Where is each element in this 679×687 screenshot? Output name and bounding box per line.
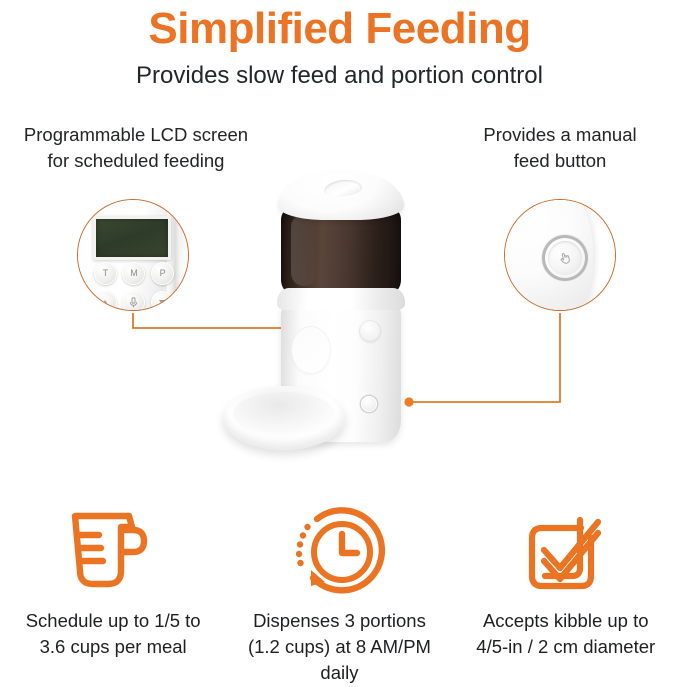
callout-caption-lcd: Programmable LCD screen for scheduled fe…: [0, 122, 274, 174]
hopper-gloss: [291, 214, 317, 286]
food-bowl-basin: [233, 392, 335, 436]
page-title: Simplified Feeding: [0, 0, 679, 56]
key-down-icon[interactable]: [151, 291, 174, 311]
feeder-collar: [277, 288, 405, 310]
feeder-lid: [278, 172, 404, 220]
feature-text-capacity: Schedule up to 1/5 to 3.6 cups per meal: [0, 608, 226, 660]
feature-text-schedule: Dispenses 3 portions (1.2 cups) at 8 AM/…: [226, 608, 452, 686]
hand-press-icon: [555, 248, 574, 267]
key-mode[interactable]: M: [122, 262, 145, 285]
lcd-keypad: T M P: [91, 262, 177, 311]
feature-icon-wrap: [453, 496, 679, 608]
key-record-icon[interactable]: [122, 291, 145, 311]
key-up-icon[interactable]: [94, 291, 117, 311]
feature-row: Schedule up to 1/5 to 3.6 cups per meal …: [0, 496, 679, 686]
feature-text-kibble-size: Accepts kibble up to 4/5-in / 2 cm diame…: [453, 608, 679, 660]
feature-item-kibble-size: Accepts kibble up to 4/5-in / 2 cm diame…: [453, 496, 679, 686]
product-image-pet-feeder: [215, 172, 465, 482]
checkbox-check-icon: [514, 502, 618, 602]
food-bowl: [223, 386, 345, 450]
feature-item-capacity: Schedule up to 1/5 to 3.6 cups per meal: [0, 496, 226, 686]
lid-handle: [323, 178, 362, 198]
key-power[interactable]: P: [151, 262, 174, 285]
microphone-icon: [129, 297, 138, 308]
feature-icon-wrap: [0, 496, 226, 608]
control-panel-cover: [291, 326, 331, 374]
body-manual-feed-button: [361, 396, 377, 412]
header: Simplified Feeding Provides slow feed an…: [0, 0, 679, 91]
device-face-lcd: T M P: [78, 200, 188, 310]
feeder-knob: [359, 320, 381, 342]
food-hopper: [281, 208, 401, 294]
clock-refresh-icon: [287, 502, 391, 602]
page-subtitle: Provides slow feed and portion control: [0, 56, 679, 91]
triangle-down-icon: [159, 300, 167, 306]
feature-icon-wrap: [226, 496, 452, 608]
device-face-manual-feed: [505, 200, 615, 310]
magnifier-circle-lcd: T M P: [77, 199, 189, 311]
triangle-up-icon: [101, 300, 109, 306]
measuring-cup-icon: [59, 504, 167, 600]
lcd-display: [93, 216, 171, 260]
feature-item-schedule: Dispenses 3 portions (1.2 cups) at 8 AM/…: [226, 496, 452, 686]
callout-caption-manual-feed: Provides a manual feed button: [437, 122, 679, 174]
key-timer[interactable]: T: [94, 262, 117, 285]
magnifier-circle-manual-feed: [504, 199, 616, 311]
